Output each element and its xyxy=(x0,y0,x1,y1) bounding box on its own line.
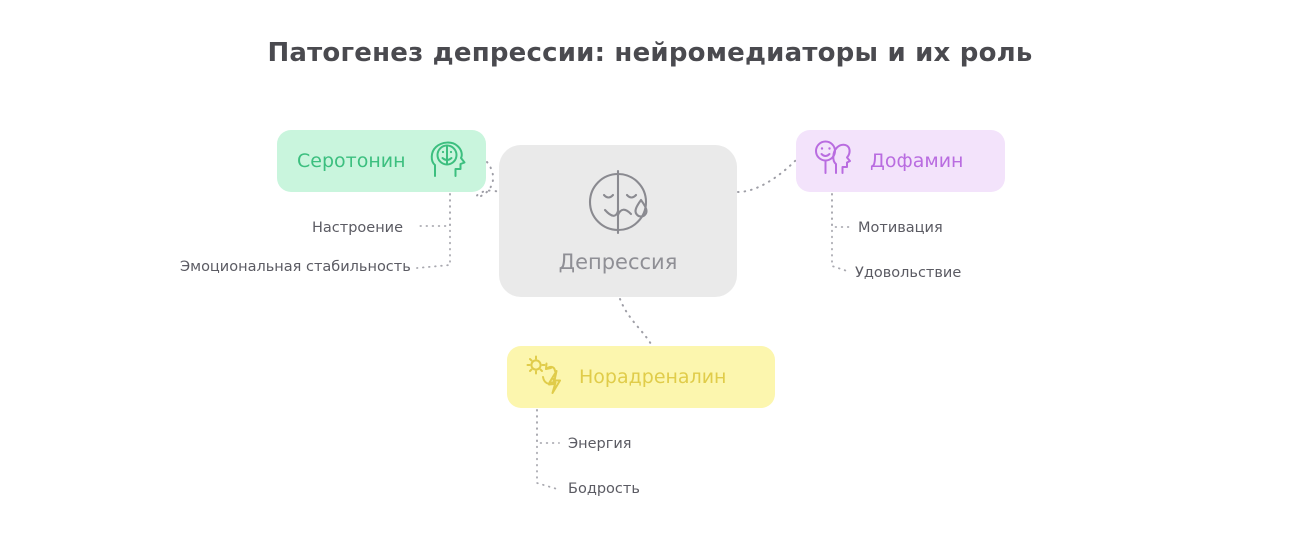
noradrenaline-label: Норадреналин xyxy=(579,366,726,388)
branch-node-dopamine[interactable]: Дофамин xyxy=(796,130,1005,192)
connector-noradrenaline-vigor xyxy=(537,410,557,489)
connector-noradrenaline-energy xyxy=(537,410,559,443)
connector-central-noradrenaline xyxy=(620,299,652,346)
connector-dopamine-motivation xyxy=(832,194,852,227)
central-node-label: Депрессия xyxy=(559,250,678,274)
diagram-canvas: Патогенез депрессии: нейромедиаторы и их… xyxy=(0,0,1300,546)
branch-node-serotonin[interactable]: Серотонин xyxy=(277,130,486,192)
dopamine-label: Дофамин xyxy=(870,150,963,172)
leaf-label-pleasure: Удовольствие xyxy=(855,265,961,281)
split-happy-sad-face-icon xyxy=(584,168,652,240)
leaf-label-energy: Энергия xyxy=(568,436,632,452)
connector-serotonin-mood xyxy=(420,194,450,226)
page-title: Патогенез депрессии: нейромедиаторы и их… xyxy=(0,38,1300,68)
serotonin-label: Серотонин xyxy=(297,150,406,172)
branch-node-noradrenaline[interactable]: Норадреналин xyxy=(507,346,775,408)
sun-lightning-cycle-icon xyxy=(523,353,567,401)
head-with-face-in-brain-icon xyxy=(428,138,468,184)
leaf-label-emotional-stability: Эмоциональная стабильность xyxy=(180,259,411,275)
leaf-label-mood: Настроение xyxy=(312,220,403,236)
connector-serotonin-emotional xyxy=(417,194,450,268)
connector-dopamine-pleasure xyxy=(832,194,850,272)
head-profile-smiley-icon xyxy=(812,138,856,184)
leaf-label-vigor: Бодрость xyxy=(568,481,640,497)
central-node-depression[interactable]: Депрессия xyxy=(499,145,737,297)
connector-central-dopamine xyxy=(738,160,796,192)
leaf-label-motivation: Мотивация xyxy=(858,220,943,236)
